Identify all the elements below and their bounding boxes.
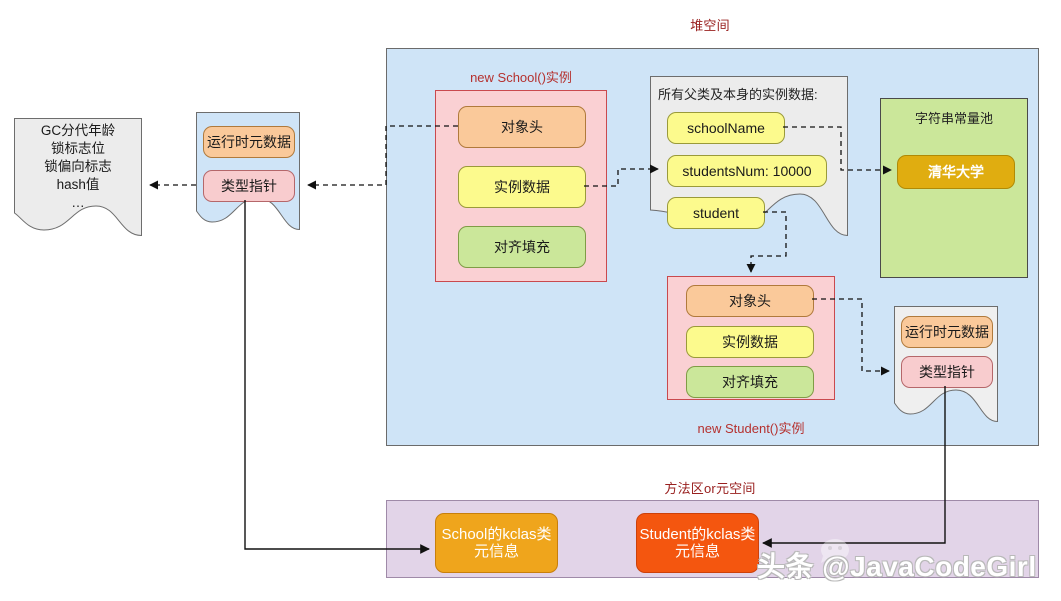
school-type-pointer-chip: 类型指针 — [203, 170, 295, 202]
student-type-pointer-chip: 类型指针 — [901, 356, 993, 388]
heap-title: 堆空间 — [610, 15, 810, 34]
string-pool-item-tsinghua: 清华大学 — [897, 155, 1015, 189]
note-line-0: GC分代年龄 — [14, 122, 142, 140]
school-kclass-chip: School的kclas类元信息 — [435, 513, 558, 573]
field-schoolname-chip: schoolName — [667, 112, 785, 144]
string-pool-title: 字符串常量池 — [880, 108, 1028, 127]
method-area-title: 方法区or元空间 — [610, 478, 810, 497]
watermark-text: 头条 @JavaCodeGirl — [757, 545, 1037, 585]
school-row-instance-data: 实例数据 — [458, 166, 586, 208]
school-instance-caption: new School()实例 — [435, 67, 607, 86]
field-student-chip: student — [667, 197, 765, 229]
field-studentsnum-chip: studentsNum: 10000 — [667, 155, 827, 187]
school-runtime-metadata-chip: 运行时元数据 — [203, 126, 295, 158]
instance-fields-header: 所有父类及本身的实例数据: — [658, 84, 818, 103]
mark-word-note-text: GC分代年龄 锁标志位 锁偏向标志 hash值 … — [14, 122, 142, 212]
note-line-1: 锁标志位 — [14, 140, 142, 158]
diagram-canvas: 堆空间 方法区or元空间 GC分代年龄 锁标志位 锁偏向标志 hash值 … 运… — [0, 0, 1061, 601]
school-row-padding: 对齐填充 — [458, 226, 586, 268]
student-runtime-metadata-chip: 运行时元数据 — [901, 316, 993, 348]
student-kclass-chip: Student的kclas类元信息 — [636, 513, 759, 573]
note-line-3: hash值 — [14, 176, 142, 194]
student-instance-caption: new Student()实例 — [667, 418, 835, 437]
student-row-object-header: 对象头 — [686, 285, 814, 317]
school-row-object-header: 对象头 — [458, 106, 586, 148]
student-row-padding: 对齐填充 — [686, 366, 814, 398]
note-line-4: … — [14, 194, 142, 212]
student-row-instance-data: 实例数据 — [686, 326, 814, 358]
note-line-2: 锁偏向标志 — [14, 158, 142, 176]
